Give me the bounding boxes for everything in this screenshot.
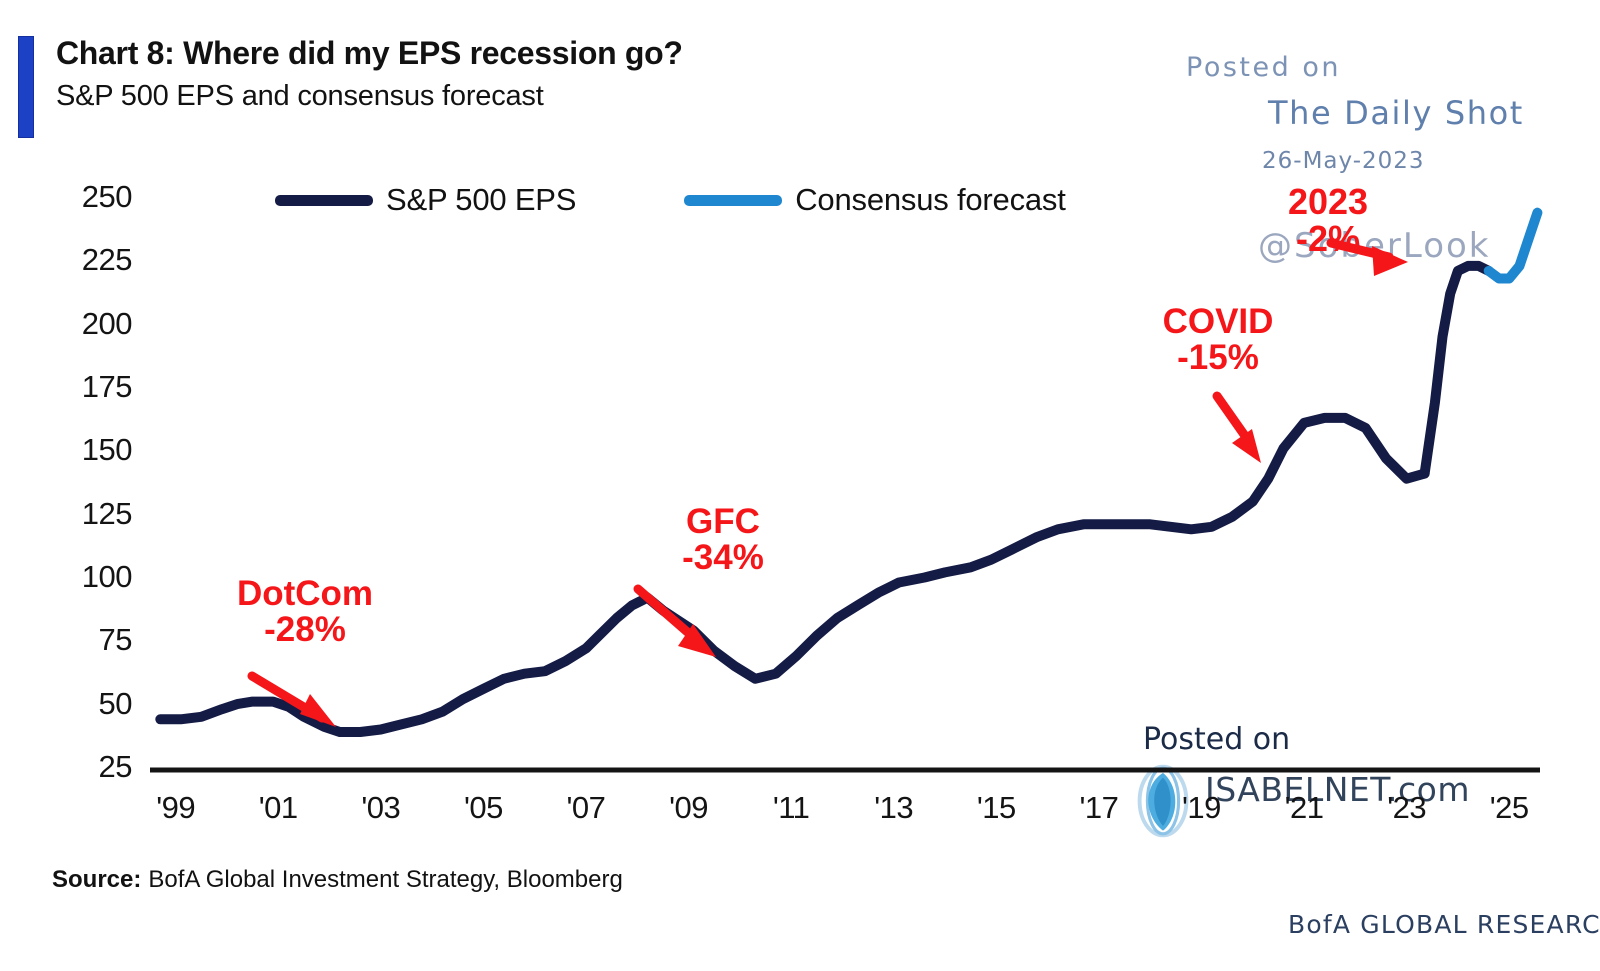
annotation-arrow-dotcom [252,676,336,727]
annotation-dotcom-line1: DotCom [215,576,395,612]
title-accent-bar [18,36,34,138]
y-axis-tick-175: 175 [40,369,132,405]
y-axis-tick-200: 200 [40,306,132,342]
bofa-global-research-footer: BofA GLOBAL RESEARCH [1288,910,1600,939]
series-line-sp500-eps-recovery [1425,266,1489,474]
annotation-arrow-covid [1217,396,1261,463]
x-axis-tick-2007: '07 [541,790,631,826]
x-axis-tick-2025: '25 [1464,790,1554,826]
x-axis-tick-2011: '11 [746,790,836,826]
y-axis-tick-250: 250 [40,179,132,215]
x-axis-tick-2009: '09 [644,790,734,826]
annotation-arrow-gfc [638,589,716,657]
x-axis-tick-1999: '99 [131,790,221,826]
chart-legend: S&P 500 EPS Consensus forecast [275,182,1066,218]
watermark-posted-on-bottom: Posted on [1143,722,1290,757]
x-axis-tick-2013: '13 [849,790,939,826]
page-subtitle: S&P 500 EPS and consensus forecast [56,80,683,113]
legend-label-consensus-forecast: Consensus forecast [795,182,1065,218]
x-axis-tick-2003: '03 [336,790,426,826]
x-axis-tick-2001: '01 [233,790,323,826]
y-axis-tick-50: 50 [40,686,132,722]
series-line-consensus-forecast [1489,213,1538,279]
y-axis-tick-225: 225 [40,242,132,278]
legend-swatch-consensus-forecast [684,195,782,206]
x-axis-tick-2017: '17 [1054,790,1144,826]
annotation-gfc-line1: GFC [638,504,808,540]
y-axis-tick-25: 25 [40,749,132,785]
x-axis-tick-2015: '15 [951,790,1041,826]
x-axis-tick-2021: '21 [1259,790,1349,826]
y-axis-tick-125: 125 [40,496,132,532]
legend-item-sp500-eps: S&P 500 EPS [275,182,576,218]
y-axis-tick-100: 100 [40,559,132,595]
y-axis-tick-150: 150 [40,432,132,468]
x-axis-tick-2005: '05 [438,790,528,826]
annotation-gfc: GFC -34% [638,504,808,575]
legend-label-sp500-eps: S&P 500 EPS [386,182,576,218]
page-title: Chart 8: Where did my EPS recession go? [56,36,683,71]
annotation-covid-line2: -15% [1128,340,1308,376]
watermark-posted-on-top: Posted on [1186,52,1341,83]
watermark-date: 26-May-2023 [1262,148,1425,174]
watermark-daily-shot: The Daily Shot [1268,94,1524,132]
annotation-gfc-line2: -34% [638,540,808,576]
y-axis-tick-75: 75 [40,622,132,658]
annotation-2023-line1: 2023 [1248,184,1408,221]
annotation-dotcom-line2: -28% [215,612,395,648]
annotation-covid: COVID -15% [1128,304,1308,375]
annotation-covid-line1: COVID [1128,304,1308,340]
x-axis-tick-2023: '23 [1362,790,1452,826]
annotation-2023-line2: -2% [1248,221,1408,258]
source-label: Source: [52,866,141,893]
legend-item-consensus-forecast: Consensus forecast [684,182,1065,218]
x-axis-tick-2019: '19 [1156,790,1246,826]
chart-header: Chart 8: Where did my EPS recession go? … [18,36,683,138]
source-note: Source:BofA Global Investment Strategy, … [52,866,623,894]
source-text: BofA Global Investment Strategy, Bloombe… [148,866,622,893]
title-block: Chart 8: Where did my EPS recession go? … [56,36,683,113]
annotation-2023: 2023 -2% [1248,184,1408,257]
annotation-dotcom: DotCom -28% [215,576,395,647]
legend-swatch-sp500-eps [275,195,373,206]
